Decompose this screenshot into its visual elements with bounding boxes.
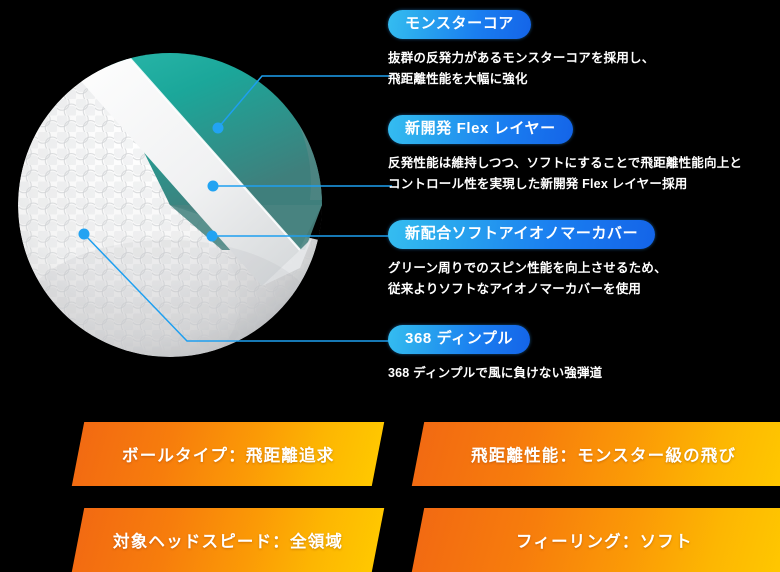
callout-desc-flex-layer: 反発性能は維持しつつ、ソフトにすることで飛距離性能向上と コントロール性を実現し… (388, 153, 742, 195)
spec-banner-group: ボールタイプ：飛距離追求 飛距離性能：モンスター級の飛び 対象ヘッドスピード：全… (0, 414, 780, 572)
callout-desc-soft-ionomer-cover: グリーン周りでのスピン性能を向上させるため、 従来よりソフトなアイオノマーカバー… (388, 258, 667, 300)
spec-banner-feeling: フィーリング：ソフト (412, 508, 780, 572)
golf-ball-graphic (0, 0, 400, 410)
callout-soft-ionomer-cover: 新配合ソフトアイオノマーカバー グリーン周りでのスピン性能を向上させるため、 従… (388, 220, 667, 300)
callout-flex-layer: 新開発 Flex レイヤー 反発性能は維持しつつ、ソフトにすることで飛距離性能向… (388, 115, 742, 195)
spec-banner-head-speed: 対象ヘッドスピード：全領域 (72, 508, 384, 572)
spec-banner-head-speed-label: 対象ヘッドスピード：全領域 (113, 528, 343, 552)
spec-banner-feeling-label: フィーリング：ソフト (516, 528, 693, 552)
spec-banner-ball-type: ボールタイプ：飛距離追求 (72, 422, 384, 486)
callout-pill-soft-ionomer-cover: 新配合ソフトアイオノマーカバー (388, 220, 655, 249)
callout-monster-core: モンスターコア 抜群の反発力があるモンスターコアを採用し、 飛距離性能を大幅に強… (388, 10, 654, 90)
product-feature-panel: モンスターコア 抜群の反発力があるモンスターコアを採用し、 飛距離性能を大幅に強… (0, 0, 780, 572)
callout-desc-monster-core: 抜群の反発力があるモンスターコアを採用し、 飛距離性能を大幅に強化 (388, 48, 654, 90)
callout-pill-flex-layer: 新開発 Flex レイヤー (388, 115, 573, 144)
spec-banner-ball-type-label: ボールタイプ：飛距離追求 (122, 442, 334, 466)
spec-banner-distance-label: 飛距離性能：モンスター級の飛び (471, 442, 736, 466)
spec-banner-distance: 飛距離性能：モンスター級の飛び (412, 422, 780, 486)
callout-pill-dimples: 368 ディンプル (388, 325, 530, 354)
golf-ball-illustration (0, 0, 400, 410)
callout-pill-monster-core: モンスターコア (388, 10, 531, 39)
callout-dimples: 368 ディンプル 368 ディンプルで風に負けない強弾道 (388, 325, 602, 384)
callout-desc-dimples: 368 ディンプルで風に負けない強弾道 (388, 363, 602, 384)
